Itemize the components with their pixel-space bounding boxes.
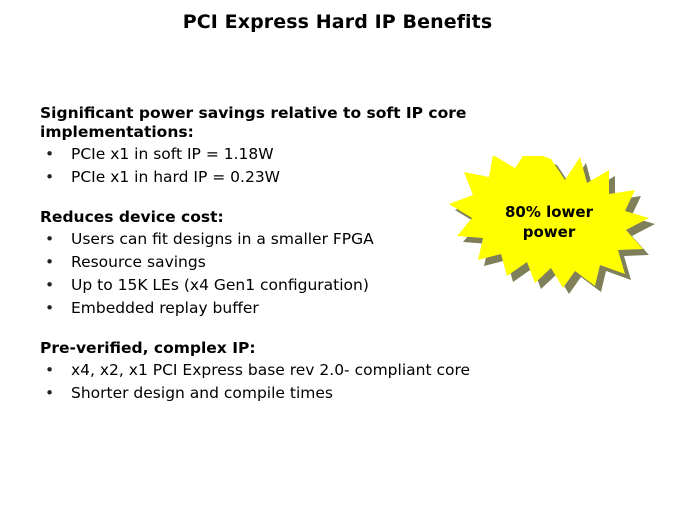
section-heading: Pre-verified, complex IP: — [40, 339, 560, 358]
list-item-label: Users can fit designs in a smaller FPGA — [71, 230, 374, 248]
list-item: • Shorter design and compile times — [40, 382, 560, 405]
slide-canvas: PCI Express Hard IP Benefits Significant… — [0, 0, 675, 506]
bullet-icon: • — [45, 297, 54, 320]
bullet-icon: • — [45, 228, 54, 251]
section-heading: Significant power savings relative to so… — [40, 104, 560, 142]
section-pre-verified-ip: Pre-verified, complex IP: • x4, x2, x1 P… — [40, 339, 560, 405]
bullet-list: • x4, x2, x1 PCI Express base rev 2.0- c… — [40, 359, 560, 405]
list-item-label: Resource savings — [71, 253, 206, 271]
list-item-label: PCIe x1 in hard IP = 0.23W — [71, 168, 280, 186]
list-item: • x4, x2, x1 PCI Express base rev 2.0- c… — [40, 359, 560, 382]
bullet-icon: • — [45, 166, 54, 189]
list-item: • Embedded replay buffer — [40, 297, 560, 320]
list-item-label: Shorter design and compile times — [71, 384, 333, 402]
list-item-label: PCIe x1 in soft IP = 1.18W — [71, 145, 274, 163]
page-title: PCI Express Hard IP Benefits — [0, 11, 675, 33]
bullet-icon: • — [45, 251, 54, 274]
bullet-icon: • — [45, 143, 54, 166]
bullet-icon: • — [45, 359, 54, 382]
starburst-callout: 80% lower power — [443, 156, 663, 294]
bullet-icon: • — [45, 274, 54, 297]
list-item-label: x4, x2, x1 PCI Express base rev 2.0- com… — [71, 361, 470, 379]
starburst-icon — [443, 156, 663, 294]
starburst-body — [449, 156, 649, 288]
list-item-label: Embedded replay buffer — [71, 299, 259, 317]
list-item-label: Up to 15K LEs (x4 Gen1 configuration) — [71, 276, 369, 294]
bullet-icon: • — [45, 382, 54, 405]
